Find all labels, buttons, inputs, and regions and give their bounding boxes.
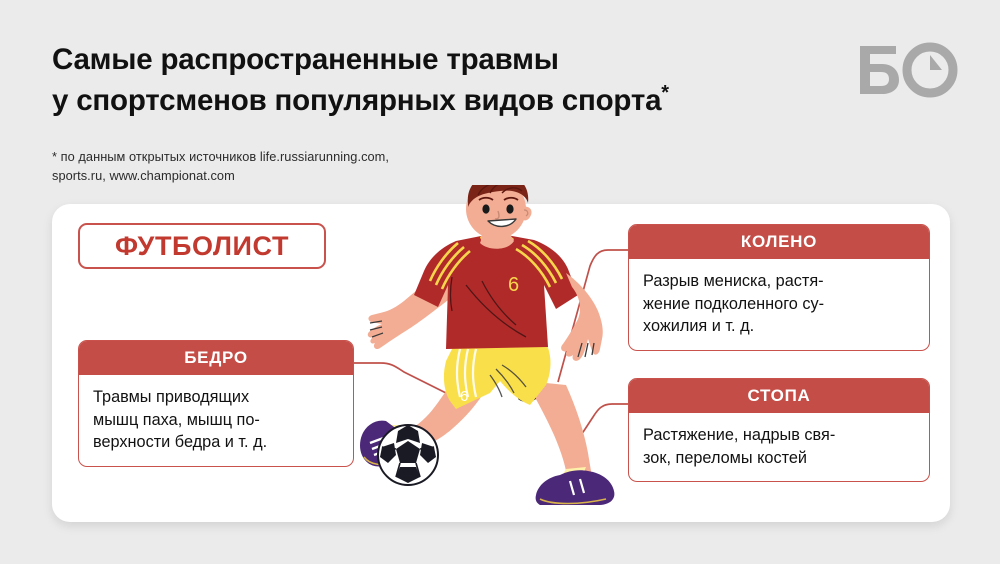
card-foot[interactable]: СТОПА Растяжение, надрыв свя- зок, перел… [628,378,930,482]
card-foot-body: Растяжение, надрыв свя- зок, переломы ко… [629,413,929,481]
card-hip-body: Травмы приводящих мышц паха, мышц по- ве… [79,375,353,466]
eye-right [506,204,513,213]
card-knee-body: Разрыв мениска, растя- жение подколенног… [629,259,929,350]
header: Самые распространенные травмы у спортсме… [52,40,812,121]
card-foot-title: СТОПА [629,379,929,413]
ear [520,207,532,221]
card-knee[interactable]: КОЛЕНО Разрыв мениска, растя- жение подк… [628,224,930,351]
card-hip-title: БЕДРО [79,341,353,375]
eye-left [482,204,489,213]
infographic-page: Самые распространенные травмы у спортсме… [0,0,1000,564]
soccer-ball [378,425,438,485]
title-asterisk: * [661,82,669,104]
football-player-illustration: 6 6 [330,185,660,505]
card-knee-title: КОЛЕНО [629,225,929,259]
shorts-number: 6 [460,388,468,405]
athlete-type-text: ФУТБОЛИСТ [115,231,289,262]
football-player-svg: 6 6 [330,185,660,505]
card-hip[interactable]: БЕДРО Травмы приводящих мышц паха, мышц … [78,340,354,467]
jersey-number: 6 [508,274,519,296]
bo-logo-icon [854,42,958,98]
footnote-sources: * по данным открытых источников life.rus… [52,148,389,185]
jersey [414,233,578,349]
bo-logo[interactable] [854,42,958,98]
athlete-type-label: ФУТБОЛИСТ [78,223,326,269]
page-title-text: Самые распространенные травмы у спортсме… [52,43,661,117]
page-title: Самые распространенные травмы у спортсме… [52,40,812,121]
